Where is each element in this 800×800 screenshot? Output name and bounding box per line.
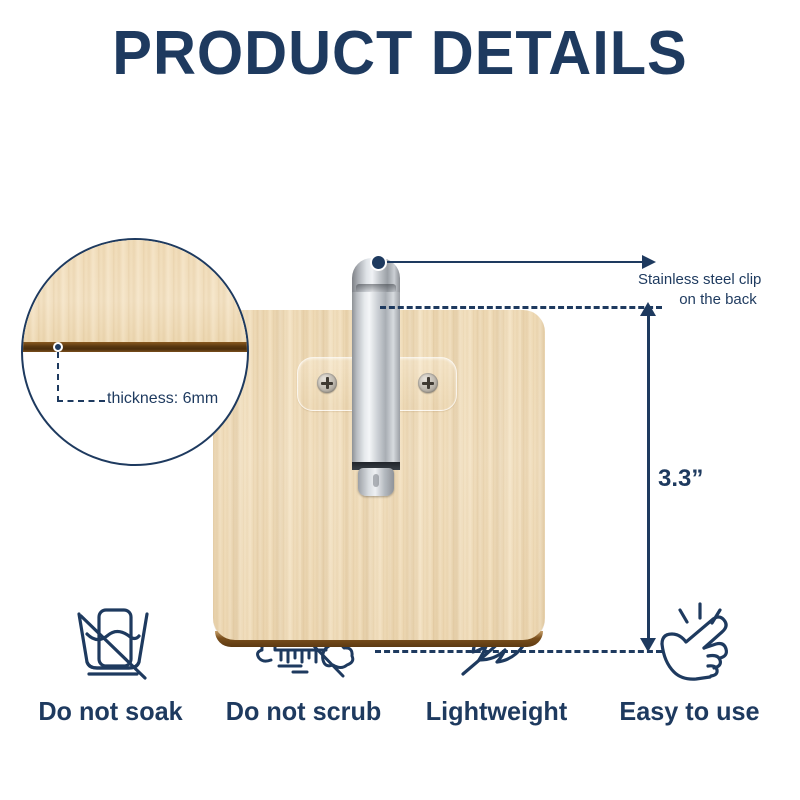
clip-body	[352, 292, 400, 470]
clip-callout-line	[386, 261, 644, 263]
magnified-wood-face	[23, 240, 247, 342]
clip-callout-line1: Stainless steel clip	[638, 271, 761, 288]
feature-label-easy-to-use: Easy to use	[596, 696, 783, 727]
feature-label-do-not-scrub: Do not scrub	[210, 696, 397, 727]
page-title: PRODUCT DETAILS	[16, 18, 784, 89]
clip-callout-dot	[370, 254, 387, 271]
screw-left-icon	[317, 373, 337, 393]
product-illustration: thickness: 6mm Stainless steel clip on t…	[0, 110, 800, 590]
product-details-infographic: PRODUCT DETAILS thickness: 6mm Stainless	[0, 0, 800, 800]
dimension-line	[647, 310, 650, 648]
screw-right-icon	[418, 373, 438, 393]
dimension-arrow-down-icon	[640, 638, 656, 652]
dimension-guide-top	[380, 306, 662, 309]
clip-callout-line2: on the back	[638, 290, 798, 310]
thickness-leader-vertical	[57, 352, 59, 402]
clip-callout-text: Stainless steel clip on the back	[638, 270, 798, 310]
clip-foot	[358, 468, 394, 496]
feature-label-do-not-soak: Do not soak	[17, 696, 204, 727]
feature-easy-to-use: Easy to use	[593, 600, 786, 727]
thickness-marker-dot	[53, 342, 63, 352]
dimension-guide-bottom	[375, 650, 662, 653]
thickness-magnifier: thickness: 6mm	[21, 238, 249, 466]
no-soak-icon	[14, 600, 207, 686]
dimension-height-label: 3.3”	[658, 465, 703, 493]
feature-label-lightweight: Lightweight	[403, 696, 590, 727]
tap-hand-icon	[593, 600, 786, 686]
thickness-leader-horizontal	[57, 400, 105, 402]
clip-callout-arrow-icon	[642, 255, 656, 269]
thickness-label: thickness: 6mm	[107, 390, 218, 408]
feature-do-not-soak: Do not soak	[14, 600, 207, 727]
dimension-arrow-up-icon	[640, 302, 656, 316]
